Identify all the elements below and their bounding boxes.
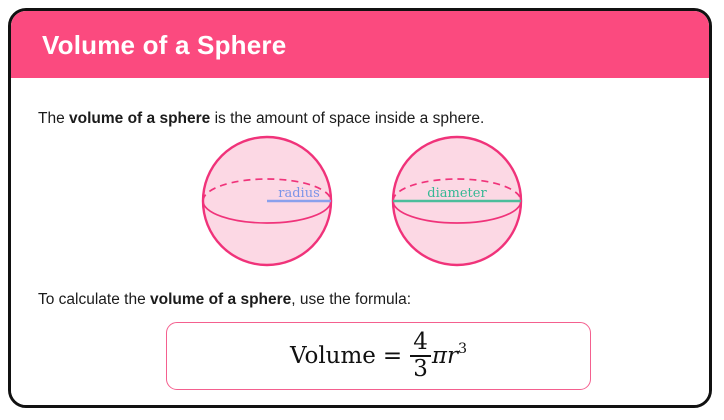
- fraction-denominator: 3: [410, 357, 431, 381]
- content-area: The volume of a sphere is the amount of …: [11, 78, 709, 405]
- exponent-three: 3: [458, 342, 467, 356]
- formula-intro-bold: volume of a sphere: [150, 291, 291, 308]
- formula-lhs: Volume: [290, 345, 376, 368]
- volume-formula: Volume = 4 3 π r 3: [290, 331, 467, 382]
- formula-intro-after: , use the formula:: [291, 291, 411, 308]
- intro-text-before: The: [38, 110, 69, 127]
- radius-variable: r: [447, 345, 458, 368]
- formula-intro-paragraph: To calculate the volume of a sphere, use…: [38, 290, 411, 310]
- fraction-numerator: 4: [410, 331, 431, 355]
- formula-intro-before: To calculate the: [38, 291, 150, 308]
- page-header: Volume of a Sphere: [11, 11, 709, 78]
- lesson-card: Volume of a Sphere The volume of a spher…: [8, 8, 712, 408]
- intro-text-after: is the amount of space inside a sphere.: [210, 110, 484, 127]
- page-title: Volume of a Sphere: [42, 32, 286, 58]
- diameter-label: diameter: [427, 186, 487, 201]
- pi-symbol: π: [432, 345, 447, 368]
- sphere-diagram: radius diameter: [191, 135, 551, 270]
- fraction-four-thirds: 4 3: [410, 331, 431, 382]
- formula-equals: =: [383, 345, 402, 368]
- intro-paragraph: The volume of a sphere is the amount of …: [38, 109, 484, 129]
- intro-text-bold: volume of a sphere: [69, 110, 210, 127]
- radius-label: radius: [278, 186, 320, 201]
- sphere-diagram-svg: radius diameter: [191, 135, 551, 270]
- sphere-diameter: diameter: [393, 137, 521, 265]
- sphere-radius: radius: [203, 137, 331, 265]
- formula-box: Volume = 4 3 π r 3: [166, 322, 591, 390]
